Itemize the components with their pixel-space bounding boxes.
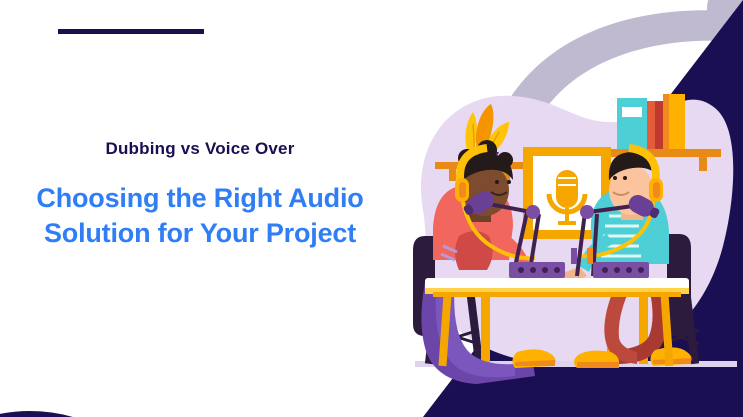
books	[617, 94, 685, 149]
mixer-left	[509, 262, 565, 278]
podcast-illustration	[363, 0, 743, 417]
gear-post-left	[571, 248, 577, 264]
text-column: Dubbing vs Voice Over Choosing the Right…	[0, 140, 400, 252]
mixer-right	[593, 262, 649, 278]
corner-arcs-decoration	[0, 267, 180, 417]
page-title: Choosing the Right Audio Solution for Yo…	[0, 181, 400, 252]
top-rule-decoration	[58, 29, 204, 34]
headline-line-1: Choosing the Right Audio	[36, 183, 363, 213]
podcast-banner: Dubbing vs Voice Over Choosing the Right…	[0, 0, 743, 417]
headline-line-2: Solution for Your Project	[44, 218, 356, 248]
eyebrow-text: Dubbing vs Voice Over	[0, 140, 400, 159]
gear-post-right	[587, 248, 593, 264]
